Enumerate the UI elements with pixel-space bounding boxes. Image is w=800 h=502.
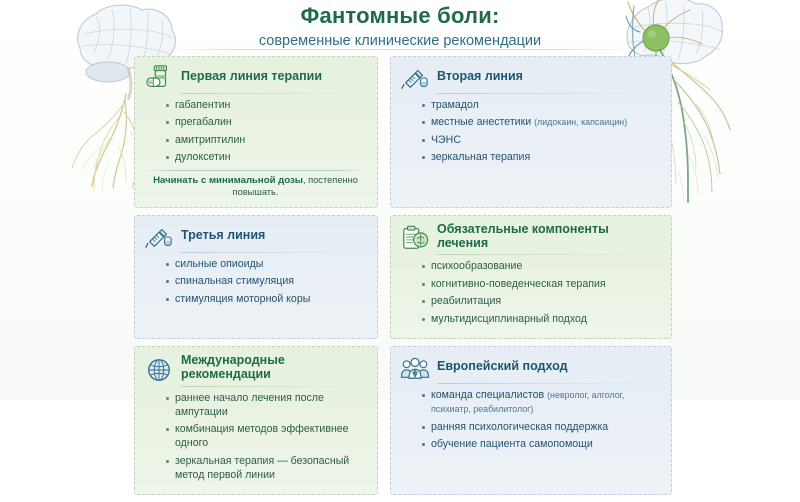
note-divider <box>146 170 365 171</box>
page-header: Фантомные боли: современные клинические … <box>0 4 800 49</box>
card-international-guidelines[interactable]: Международные рекомендации раннее начало… <box>134 346 378 495</box>
card-note: Начинать с минимальной дозы, постепенно … <box>144 175 367 199</box>
card-european-approach[interactable]: Европейский подход команда специалистов … <box>390 346 672 495</box>
title-rule <box>181 93 367 94</box>
card-header: Вторая линия <box>400 64 661 92</box>
card-title: Вторая линия <box>437 70 523 87</box>
list-item: сильные опиоиды <box>166 258 367 272</box>
card-header: Обязательные компоненты лечения <box>400 223 661 254</box>
list-item: обучение пациента самопомощи <box>422 438 661 452</box>
card-header: Европейский подход <box>400 354 661 382</box>
list-item: местные анестетики (лидокаин, капсаицин) <box>422 116 661 130</box>
title-rule <box>437 93 661 94</box>
list-item: когнитивно-поведенческая терапия <box>422 278 661 292</box>
list-item: реабилитация <box>422 295 661 309</box>
page-subtitle: современные клинические рекомендации <box>0 33 800 50</box>
card-item-list: трамадол местные анестетики (лидокаин, к… <box>400 99 661 165</box>
card-item-list: психообразование когнитивно-поведенческа… <box>400 260 661 326</box>
card-second-line[interactable]: Вторая линия трамадол местные анестетики… <box>390 56 672 208</box>
card-title: Первая линия терапии <box>181 70 322 87</box>
card-title: Третья линия <box>181 229 265 246</box>
list-item: зеркальная терапия <box>422 151 661 165</box>
pill-bottle-icon <box>144 64 174 92</box>
list-item: стимуляция моторной коры <box>166 293 367 307</box>
list-item: команда специалистов (невролог, алголог,… <box>422 389 661 417</box>
list-item: мультидисциплинарный подход <box>422 313 661 327</box>
list-item: ЧЭНС <box>422 134 661 148</box>
card-item-list: сильные опиоиды спинальная стимуляция ст… <box>144 258 367 307</box>
list-item: комбинация методов эффективнее одного <box>166 423 367 451</box>
card-mandatory-components[interactable]: Обязательные компоненты лечения психообр… <box>390 215 672 339</box>
title-rule <box>181 252 367 253</box>
card-header: Третья линия <box>144 223 367 251</box>
list-item: зеркальная терапия — безопасный метод пе… <box>166 455 367 483</box>
list-item: раннее начало лечения после ампутации <box>166 392 367 420</box>
clipboard-brain-icon <box>400 224 430 252</box>
list-item: психообразование <box>422 260 661 274</box>
list-item: габапентин <box>166 99 367 113</box>
list-item: спинальная стимуляция <box>166 275 367 289</box>
card-item-list: габапентин прегабалин амитриптилин дулок… <box>144 99 367 165</box>
card-header: Первая линия терапии <box>144 64 367 92</box>
list-item: ранняя психологическая поддержка <box>422 421 661 435</box>
title-rule <box>437 254 661 255</box>
infographic-canvas: Фантомные боли: современные клинические … <box>0 0 800 400</box>
globe-icon <box>144 356 174 384</box>
card-header: Международные рекомендации <box>144 354 367 385</box>
list-item: прегабалин <box>166 116 367 130</box>
list-item: дулоксетин <box>166 151 367 165</box>
team-icon <box>400 354 430 382</box>
card-title: Европейский подход <box>437 360 568 377</box>
syringe-icon <box>400 64 430 92</box>
card-item-list: команда специалистов (невролог, алголог,… <box>400 389 661 452</box>
page-title: Фантомные боли: <box>0 4 800 29</box>
syringe-icon <box>144 223 174 251</box>
cards-grid: Первая линия терапии габапентин прегабал… <box>134 56 672 502</box>
card-item-list: раннее начало лечения после ампутации ко… <box>144 392 367 483</box>
cards-row: Третья линия сильные опиоиды спинальная … <box>134 215 672 339</box>
card-title: Обязательные компоненты лечения <box>437 223 661 254</box>
cards-row: Международные рекомендации раннее начало… <box>134 346 672 495</box>
list-item: амитриптилин <box>166 134 367 148</box>
card-third-line[interactable]: Третья линия сильные опиоиды спинальная … <box>134 215 378 339</box>
list-item: трамадол <box>422 99 661 113</box>
card-first-line-therapy[interactable]: Первая линия терапии габапентин прегабал… <box>134 56 378 208</box>
title-rule <box>437 383 661 384</box>
title-rule <box>181 386 367 387</box>
card-title: Международные рекомендации <box>181 354 367 385</box>
header-divider <box>160 49 640 50</box>
cards-row: Первая линия терапии габапентин прегабал… <box>134 56 672 208</box>
